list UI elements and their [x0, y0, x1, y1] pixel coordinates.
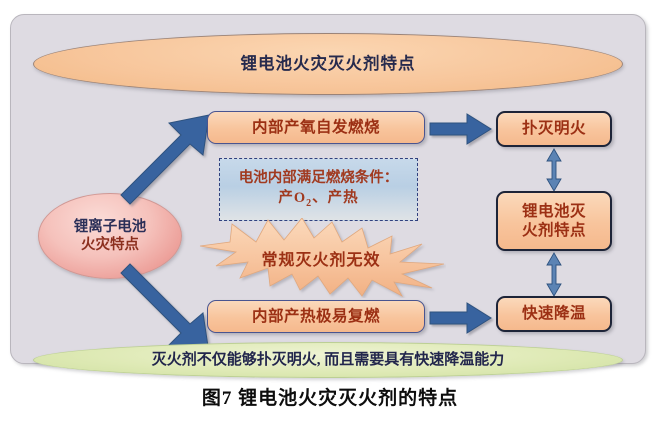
o2-suffix: 、产热: [312, 190, 359, 206]
source-ellipse-label-line1: 锂离子电池: [74, 219, 147, 235]
box-agent-characteristics-label-line1: 锂电池灭: [522, 202, 586, 221]
box-extinguish-flame-label: 扑灭明火: [522, 120, 586, 137]
top-ellipse-node: 锂电池火灾灭火剂特点: [33, 33, 623, 95]
box-rapid-cooling-label: 快速降温: [522, 305, 586, 322]
box-internal-oxygen-label: 内部产氧自发燃烧: [252, 119, 380, 136]
arrow-right-block-icon: [429, 113, 493, 145]
source-ellipse-label-line2: 火灾特点: [81, 237, 139, 253]
bottom-ellipse-label: 灭火剂不仅能够扑灭明火, 而且需要具有快速降温能力: [152, 352, 505, 369]
explosion-burst-node: 常规灭火剂无效: [196, 218, 446, 298]
explosion-burst-label: 常规灭火剂无效: [261, 246, 380, 270]
box-combustion-condition-label-line2: 产O2、产热: [278, 190, 358, 209]
box-internal-oxygen: 内部产氧自发燃烧: [207, 111, 425, 144]
box-internal-heat-reignition-label: 内部产热极易复燃: [252, 308, 380, 325]
figure-caption: 图7 锂电池火灾灭火剂的特点: [0, 383, 660, 410]
arrow-right-block-icon: [429, 302, 493, 334]
box-internal-heat-reignition: 内部产热极易复燃: [207, 300, 425, 333]
box-extinguish-flame: 扑灭明火: [496, 111, 612, 147]
bottom-ellipse-node: 灭火剂不仅能够扑灭明火, 而且需要具有快速降温能力: [33, 342, 623, 378]
double-arrow-vertical-icon: [543, 148, 565, 192]
double-arrow-vertical-icon: [543, 252, 565, 297]
o2-prefix: 产O: [278, 190, 306, 206]
diagram-panel: 锂电池火灾灭火剂特点 锂离子电池 火灾特点 内部产氧自发燃烧 电池内部满足燃烧条…: [10, 14, 646, 364]
box-rapid-cooling: 快速降温: [496, 296, 612, 332]
box-agent-characteristics-label-line2: 火剂特点: [522, 221, 586, 240]
explosion-burst-label-wrapper: 常规灭火剂无效: [196, 218, 446, 298]
box-combustion-condition-label-line1: 电池内部满足燃烧条件：: [239, 170, 399, 186]
top-ellipse-label: 锂电池火灾灭火剂特点: [241, 55, 416, 73]
arrow-up-right-icon: [119, 109, 215, 213]
box-combustion-condition: 电池内部满足燃烧条件： 产O2、产热: [219, 158, 418, 221]
box-agent-characteristics: 锂电池灭 火剂特点: [496, 191, 612, 251]
